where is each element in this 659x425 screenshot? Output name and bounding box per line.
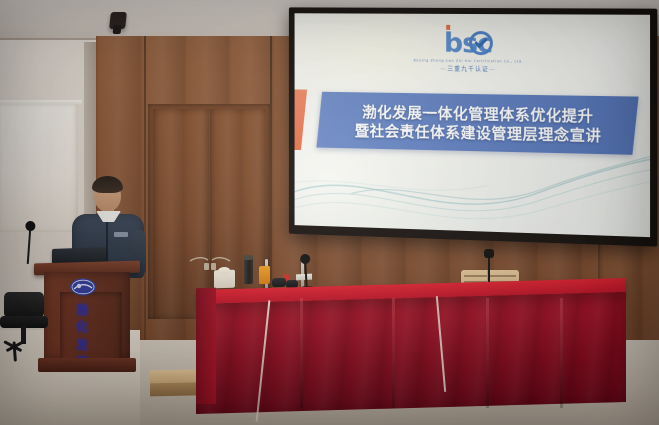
office-chair-legs — [2, 340, 46, 354]
lectern-body: 渤 化 发 展 — [44, 272, 130, 360]
ceiling-speaker-icon — [109, 12, 127, 29]
presenter-hair — [92, 176, 123, 193]
presenter-badge — [114, 232, 128, 237]
lectern-char-1: 渤 — [76, 302, 88, 319]
projection-screen-frame: bsc Beijing Zhong Jian Zhi Hui Certifica… — [289, 7, 657, 246]
slide-swoosh-decor — [295, 135, 650, 237]
office-chair-back — [4, 292, 44, 318]
lectern-base — [38, 358, 136, 372]
window-panel — [0, 104, 78, 232]
office-chair — [0, 292, 54, 358]
company-emblem-icon — [68, 277, 98, 297]
slide-logo: bsc Beijing Zhong Jian Zhi Hui Certifica… — [295, 29, 650, 75]
double-door[interactable] — [148, 104, 270, 319]
tablecloth-fold — [300, 298, 303, 408]
lectern-char-3: 发 — [76, 337, 88, 354]
logo-accent-dot-icon — [446, 25, 450, 30]
conference-room-photo: bsc Beijing Zhong Jian Zhi Hui Certifica… — [0, 0, 659, 425]
logo-dash-left: — — [440, 66, 447, 73]
projection-slide: bsc Beijing Zhong Jian Zhi Hui Certifica… — [295, 13, 650, 237]
thermos-flask — [244, 258, 253, 284]
black-device — [272, 278, 286, 287]
logo-dash-right: — — [489, 66, 496, 73]
orange-cup — [259, 266, 270, 284]
lectern-char-2: 化 — [76, 319, 88, 336]
tablecloth-fold — [486, 298, 489, 408]
tablecloth-fold — [560, 298, 563, 408]
logo-tagline-cn-text: 三重九千认证 — [447, 66, 489, 73]
tissue-box — [214, 270, 235, 289]
conference-table-left-edge — [196, 288, 216, 405]
bsc-logo-icon: bsc — [444, 30, 492, 57]
tablecloth-fold — [392, 298, 395, 408]
